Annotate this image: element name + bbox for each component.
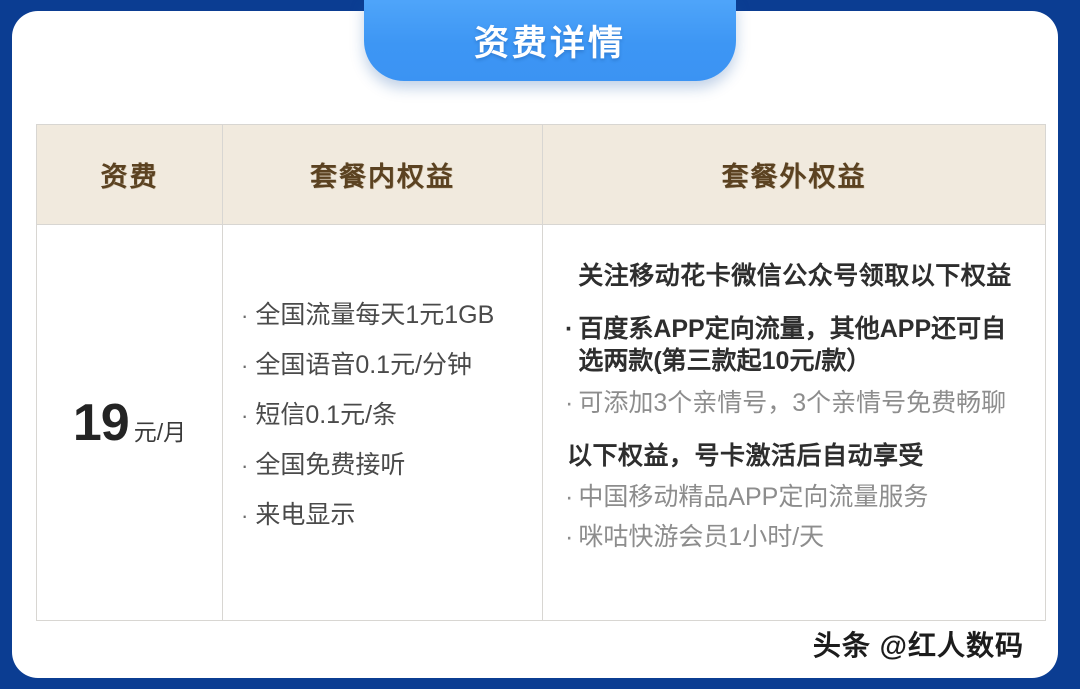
column-header-out-plan: 套餐外权益 bbox=[543, 125, 1045, 224]
page-title: 资费详情 bbox=[474, 20, 626, 61]
title-tab: 资费详情 bbox=[364, 0, 736, 81]
page-root: 资费详情 资费 套餐内权益 套餐外权益 19 元/月 bbox=[0, 0, 1080, 689]
list-item-label: 咪咕快游会员1小时/天 bbox=[578, 521, 824, 553]
cell-out-plan-benefits: 关注移动花卡微信公众号领取以下权益 · 百度系APP定向流量，其他APP还可自选… bbox=[543, 225, 1045, 620]
list-item-label: 百度系APP定向流量，其他APP还可自选两款(第三款起10元/款） bbox=[578, 313, 1025, 377]
list-item-label: 可添加3个亲情号，3个亲情号免费畅聊 bbox=[578, 387, 1006, 419]
price-amount: 19 bbox=[73, 393, 129, 453]
tariff-table: 资费 套餐内权益 套餐外权益 19 元/月 · 全国流量每天1元1GB bbox=[36, 124, 1046, 621]
bullet-dot-icon: · bbox=[241, 305, 248, 327]
column-header-in-plan: 套餐内权益 bbox=[223, 125, 543, 224]
out-plan-heading-2: 以下权益，号卡激活后自动享受 bbox=[567, 441, 1025, 471]
list-item: · 咪咕快游会员1小时/天 bbox=[565, 521, 1025, 553]
watermark: 头条 @红人数码 bbox=[813, 624, 1024, 664]
column-header-fee: 资费 bbox=[37, 125, 223, 224]
list-item: · 短信0.1元/条 bbox=[241, 403, 542, 428]
price-display: 19 元/月 bbox=[73, 393, 186, 453]
bullet-dot-icon: · bbox=[241, 355, 248, 377]
bullet-dot-icon: · bbox=[241, 505, 248, 527]
list-item-label: 来电显示 bbox=[255, 503, 355, 528]
bullet-dot-icon: · bbox=[565, 481, 573, 513]
list-item: · 可添加3个亲情号，3个亲情号免费畅聊 bbox=[565, 387, 1025, 419]
list-item-label: 中国移动精品APP定向流量服务 bbox=[578, 481, 928, 513]
bullet-dot-icon: · bbox=[565, 387, 573, 419]
content-card: 资费详情 资费 套餐内权益 套餐外权益 19 元/月 bbox=[12, 11, 1058, 678]
list-item-label: 短信0.1元/条 bbox=[255, 403, 397, 428]
bullet-dot-icon: · bbox=[241, 455, 248, 477]
bullet-dot-icon: · bbox=[565, 521, 573, 553]
bullet-dot-icon: · bbox=[241, 405, 248, 427]
list-item: · 来电显示 bbox=[241, 503, 542, 528]
list-item: · 全国语音0.1元/分钟 bbox=[241, 353, 542, 378]
list-item: · 全国流量每天1元1GB bbox=[241, 303, 542, 328]
list-item-label: 全国流量每天1元1GB bbox=[255, 303, 494, 328]
price-unit: 元/月 bbox=[134, 413, 186, 447]
cell-fee: 19 元/月 bbox=[37, 225, 223, 620]
list-item: · 百度系APP定向流量，其他APP还可自选两款(第三款起10元/款） bbox=[565, 313, 1025, 377]
cell-in-plan-benefits: · 全国流量每天1元1GB · 全国语音0.1元/分钟 · 短信0.1元/条 ·… bbox=[223, 225, 543, 620]
out-plan-heading-1: 关注移动花卡微信公众号领取以下权益 bbox=[565, 261, 1025, 291]
list-item-label: 全国语音0.1元/分钟 bbox=[255, 353, 472, 378]
table-body-row: 19 元/月 · 全国流量每天1元1GB · 全国语音0.1元/分钟 bbox=[37, 225, 1045, 620]
list-item-label: 全国免费接听 bbox=[255, 453, 405, 478]
bullet-dot-icon: · bbox=[565, 313, 573, 345]
table-header-row: 资费 套餐内权益 套餐外权益 bbox=[37, 125, 1045, 225]
list-item: · 中国移动精品APP定向流量服务 bbox=[565, 481, 1025, 513]
list-item: · 全国免费接听 bbox=[241, 453, 542, 478]
